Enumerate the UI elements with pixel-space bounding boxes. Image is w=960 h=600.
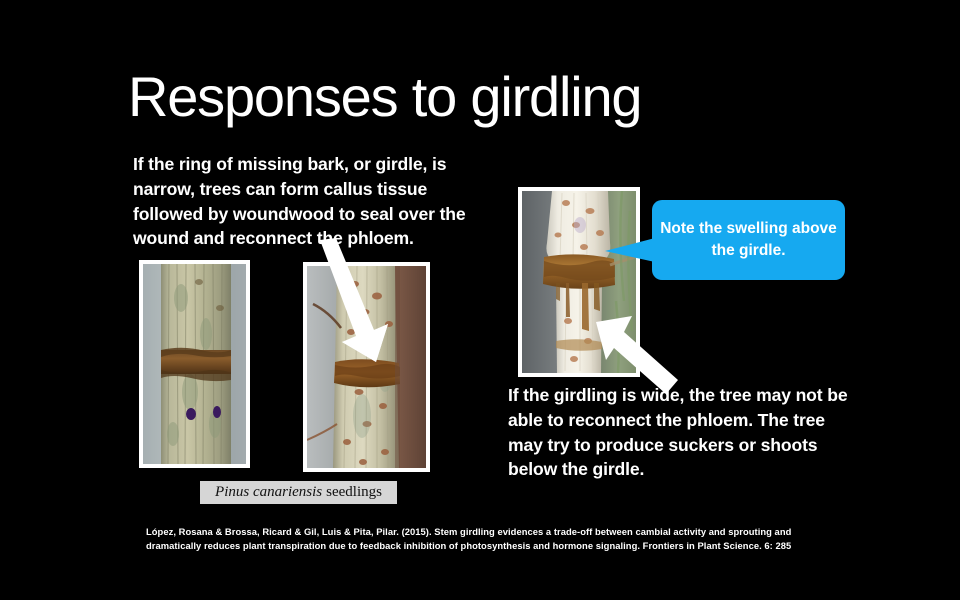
page-title: Responses to girdling: [128, 68, 641, 127]
callout-note-swelling: Note the swelling above the girdle.: [652, 200, 845, 280]
photo-girdled-stem-narrow-callus: [139, 260, 250, 468]
caption-rest: seedlings: [326, 484, 382, 501]
photo-caption: Pinus canariensisseedlings: [200, 481, 397, 504]
arrow-up-left-icon: [592, 312, 682, 394]
callout-pointer-icon: [605, 238, 655, 262]
left-body-text: If the ring of missing bark, or girdle, …: [133, 152, 493, 251]
caption-species: Pinus canariensis: [215, 484, 322, 501]
slide-canvas: Responses to girdling If the ring of mis…: [0, 0, 960, 600]
callout-text: Note the swelling above the girdle.: [652, 218, 845, 261]
stem-illustration-1: [143, 264, 246, 464]
photo-1-image: [143, 264, 246, 464]
right-body-text: If the girdling is wide, the tree may no…: [508, 383, 860, 482]
citation-text: López, Rosana & Brossa, Ricard & Gil, Lu…: [146, 525, 846, 553]
arrow-down-right-icon: [300, 238, 390, 366]
